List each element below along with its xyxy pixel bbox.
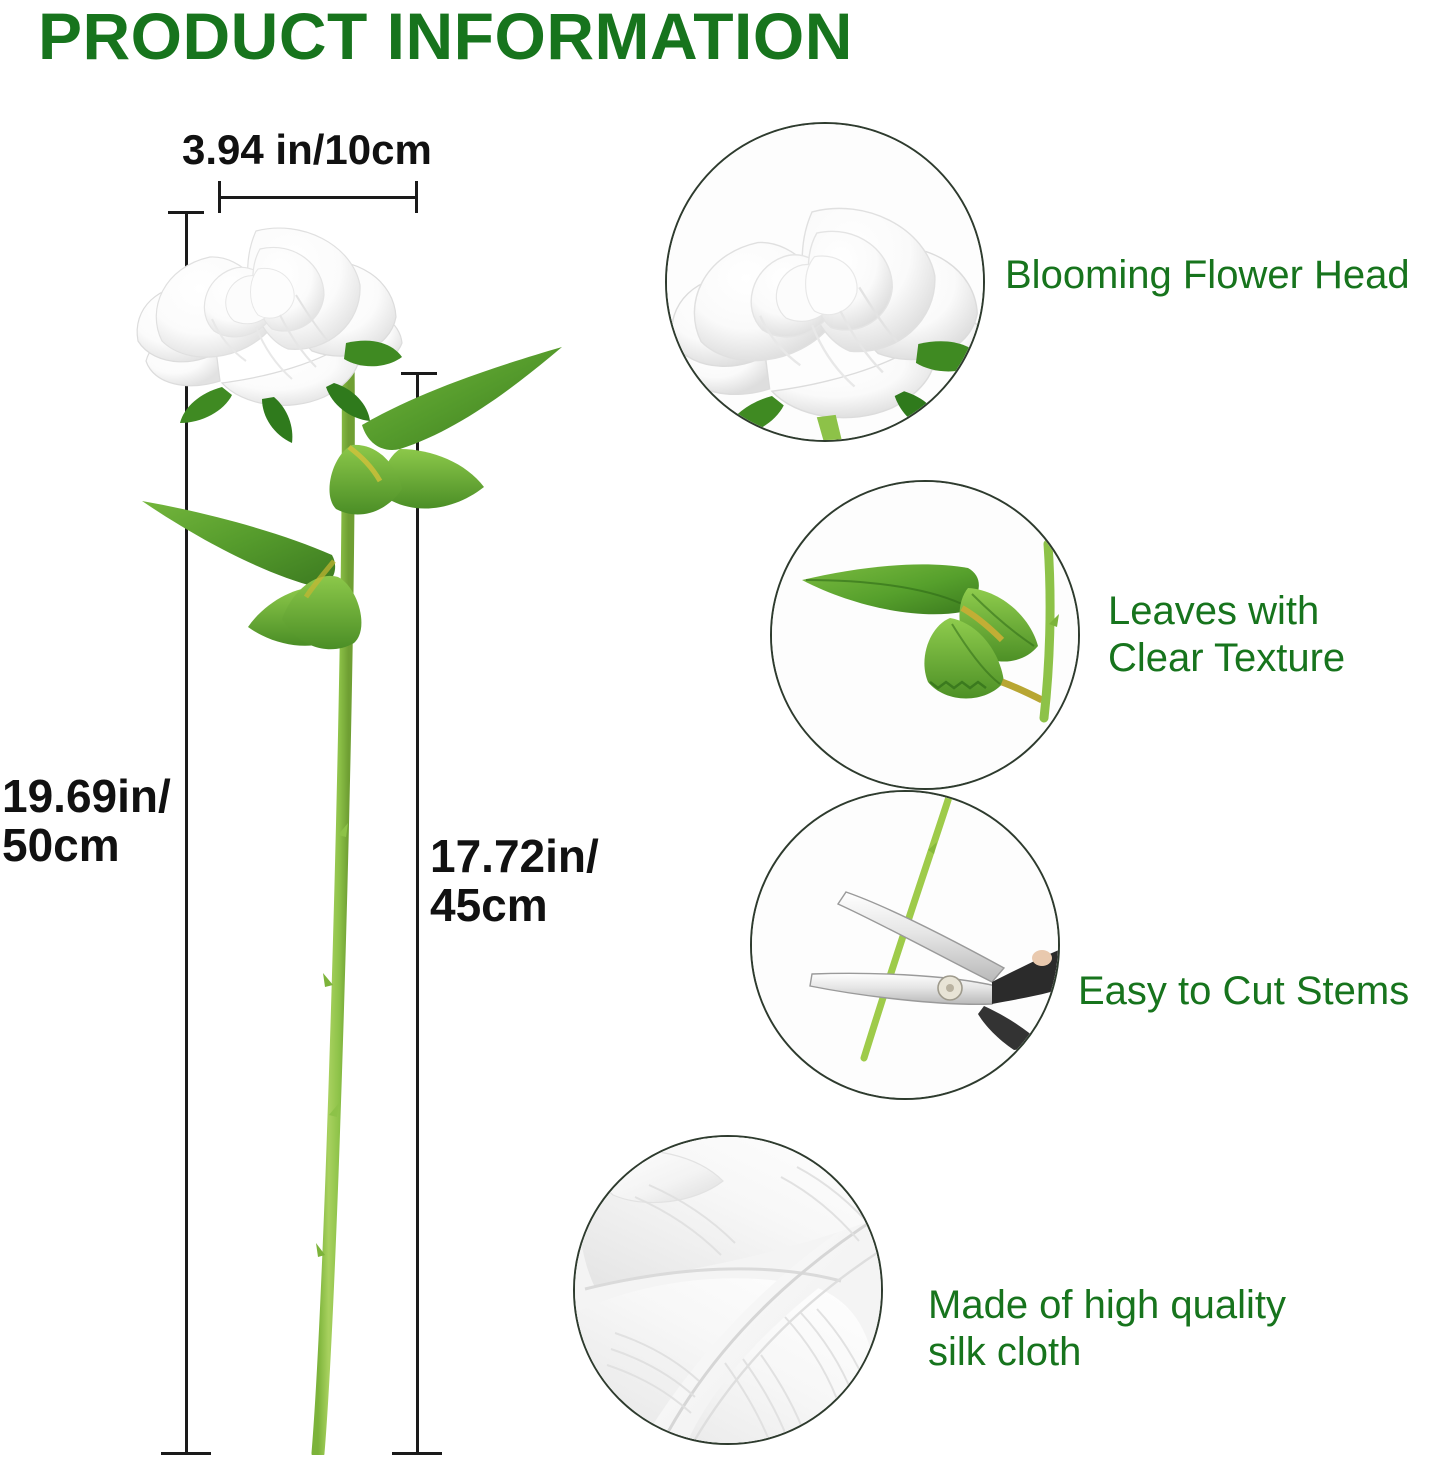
callout-label-cut-stems: Easy to Cut Stems [1078,968,1409,1015]
callout-circle-silk-cloth [573,1135,883,1445]
callout-circle-leaves [770,480,1080,790]
product-information-infographic: PRODUCT INFORMATION 3.94 in/10cm 19.69in… [0,0,1445,1459]
callout-label-flower-head: Blooming Flower Head [1005,252,1410,299]
white-rose-head-closeup-icon [667,124,985,442]
scissors-cutting-stem-icon [752,792,1060,1100]
callout-label-leaves: Leaves with Clear Texture [1108,588,1345,682]
width-dimension-label: 3.94 in/10cm [182,128,432,173]
callout-label-silk-cloth: Made of high quality silk cloth [928,1282,1286,1376]
green-leaves-closeup-icon [772,482,1080,790]
callout-circle-cut-stems [750,790,1060,1100]
product-photo-white-rose [100,195,580,1455]
page-title: PRODUCT INFORMATION [38,2,853,71]
silk-cloth-texture-closeup-icon [575,1137,883,1445]
callout-circle-flower-head [665,122,985,442]
